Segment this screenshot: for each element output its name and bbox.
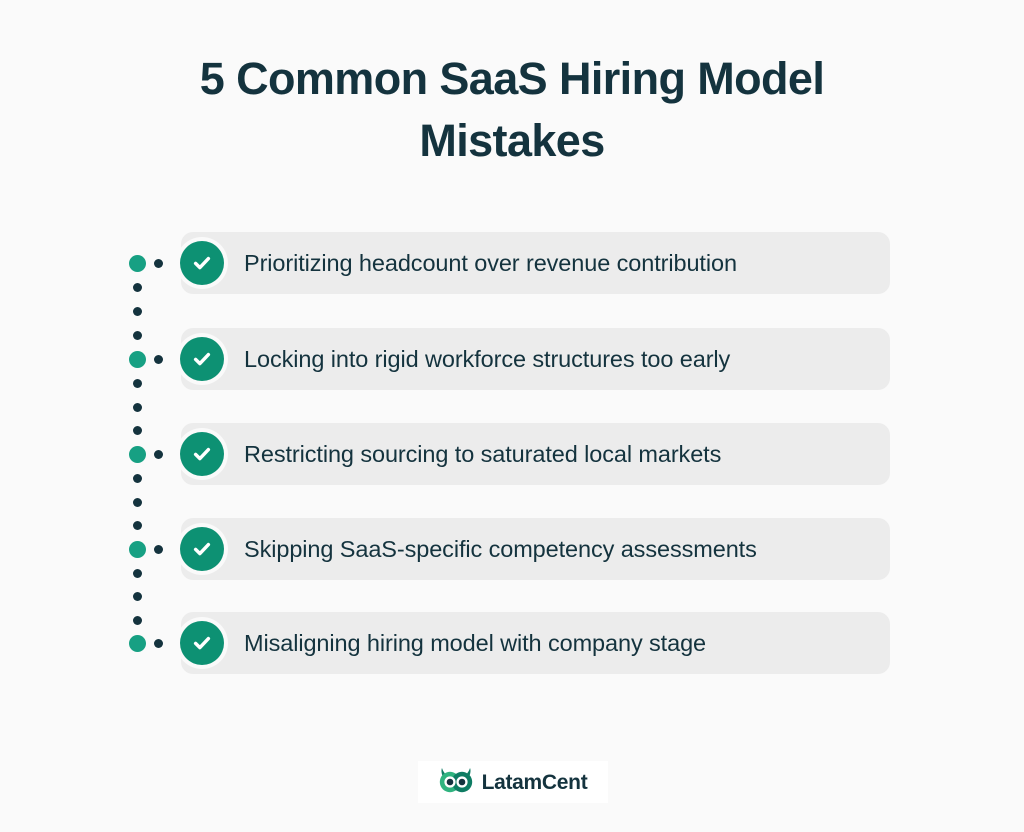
- check-circle-disc: [180, 337, 224, 381]
- check-circle-disc: [180, 527, 224, 571]
- list-item-label: Misaligning hiring model with company st…: [244, 612, 706, 674]
- list-item-label: Skipping SaaS-specific competency assess…: [244, 518, 757, 580]
- check-circle-icon: [176, 523, 228, 575]
- owl-logo-icon: [439, 766, 473, 799]
- check-circle-disc: [180, 621, 224, 665]
- list-item-label: Locking into rigid workforce structures …: [244, 328, 730, 390]
- list-item-pill: Locking into rigid workforce structures …: [181, 328, 890, 390]
- check-circle-disc: [180, 241, 224, 285]
- list-item[interactable]: Prioritizing headcount over revenue cont…: [0, 232, 1024, 294]
- check-circle-icon: [176, 237, 228, 289]
- list-item[interactable]: Skipping SaaS-specific competency assess…: [0, 518, 1024, 580]
- list-item[interactable]: Restricting sourcing to saturated local …: [0, 423, 1024, 485]
- list-item-pill: Misaligning hiring model with company st…: [181, 612, 890, 674]
- check-circle-icon: [176, 333, 228, 385]
- check-circle-icon: [176, 617, 228, 669]
- brand-name: LatamCent: [482, 772, 588, 793]
- infographic-canvas: 5 Common SaaS Hiring Model Mistakes Prio…: [0, 0, 1024, 832]
- list-item-pill: Prioritizing headcount over revenue cont…: [181, 232, 890, 294]
- list-item[interactable]: Locking into rigid workforce structures …: [0, 328, 1024, 390]
- check-circle-icon: [176, 428, 228, 480]
- list-item-pill: Skipping SaaS-specific competency assess…: [181, 518, 890, 580]
- list-item[interactable]: Misaligning hiring model with company st…: [0, 612, 1024, 674]
- mistakes-list: Prioritizing headcount over revenue cont…: [0, 0, 1024, 832]
- brand-logo: LatamCent: [418, 761, 608, 803]
- list-item-label: Prioritizing headcount over revenue cont…: [244, 232, 737, 294]
- list-item-label: Restricting sourcing to saturated local …: [244, 423, 721, 485]
- check-circle-disc: [180, 432, 224, 476]
- list-item-pill: Restricting sourcing to saturated local …: [181, 423, 890, 485]
